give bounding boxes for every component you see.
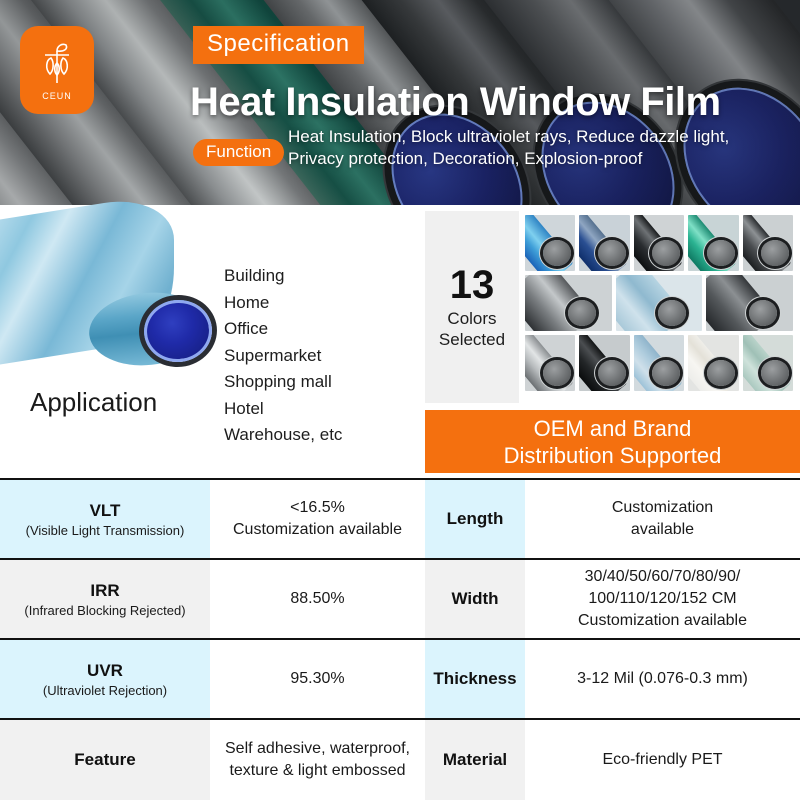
blue-film-roll[interactable] (525, 215, 575, 271)
spec-value-line: <16.5% (290, 497, 345, 519)
spec-label-cell: Feature (0, 720, 210, 800)
page-title: Heat Insulation Window Film (190, 80, 721, 125)
spec-value2-cell: 30/40/50/60/70/80/90/100/110/120/152 CMC… (525, 560, 800, 638)
spec-value-cell: <16.5%Customization available (210, 480, 425, 558)
brand-logo: CEUN (20, 26, 94, 114)
list-item: Building (224, 263, 342, 290)
spec-value-line: 95.30% (290, 668, 344, 690)
oem-banner-line-2: Distribution Supported (504, 442, 722, 469)
function-description: Heat Insulation, Block ultraviolet rays,… (288, 126, 788, 170)
swatch-tube-decor (761, 240, 789, 266)
list-item: Hotel (224, 396, 342, 423)
specification-badge: Specification (193, 26, 364, 64)
swatch-tube-decor (761, 360, 789, 386)
list-item: Home (224, 290, 342, 317)
swatch-tube-decor (707, 360, 735, 386)
spec-value2-line: 100/110/120/152 CM (588, 588, 736, 610)
navy-silver-film-roll[interactable] (579, 215, 629, 271)
spec-value-line: texture & light embossed (229, 760, 405, 782)
spec-value-line: Customization available (233, 519, 402, 541)
colors-caption-line-2: Selected (439, 329, 505, 350)
colors-count: 13 (450, 264, 495, 306)
table-row: UVR(Ultraviolet Rejection)95.30%Thicknes… (0, 640, 800, 720)
spec-value2-line: Eco-friendly PET (602, 749, 722, 771)
plant-leaf-icon (35, 39, 79, 89)
spec-value-cell: Self adhesive, waterproof,texture & ligh… (210, 720, 425, 800)
list-item: Supermarket (224, 343, 342, 370)
list-item: Warehouse, etc (224, 422, 342, 449)
oem-banner: OEM and Brand Distribution Supported (425, 410, 800, 473)
silver-film-roll[interactable] (525, 335, 575, 391)
color-swatch-grid (525, 215, 793, 395)
logo-text: CEUN (42, 91, 72, 101)
cream-white-film-roll[interactable] (688, 335, 738, 391)
swatch-tube-decor (598, 360, 626, 386)
spec-label2-main: Thickness (433, 669, 516, 689)
table-row: VLT(Visible Light Transmission)<16.5%Cus… (0, 480, 800, 560)
spec-value2-cell: Eco-friendly PET (525, 720, 800, 800)
spec-value-line: 88.50% (290, 588, 344, 610)
spec-value2-line: 3-12 Mil (0.076-0.3 mm) (577, 668, 748, 690)
swatch-row (525, 275, 793, 331)
table-row: FeatureSelf adhesive, waterproof,texture… (0, 720, 800, 800)
spec-label-main: VLT (90, 501, 121, 521)
light-blue-film-roll[interactable] (616, 275, 703, 331)
spec-label2-main: Width (451, 589, 498, 609)
light-blue-silver-film-roll[interactable] (634, 335, 684, 391)
spec-label2-cell: Material (425, 720, 525, 800)
spec-value2-line: Customization available (578, 610, 747, 632)
function-line-1: Heat Insulation, Block ultraviolet rays,… (288, 126, 788, 148)
spec-label-main: Feature (74, 750, 135, 770)
spec-label-cell: UVR(Ultraviolet Rejection) (0, 640, 210, 718)
spec-value-cell: 95.30% (210, 640, 425, 718)
black-film-roll[interactable] (579, 335, 629, 391)
gray-silver-film-roll[interactable] (525, 275, 612, 331)
table-row: IRR(Infrared Blocking Rejected)88.50%Wid… (0, 560, 800, 640)
application-film-roll-image (0, 205, 209, 405)
spec-label2-cell: Length (425, 480, 525, 558)
swatch-tube-decor (568, 300, 596, 326)
spec-value2-line: available (631, 519, 694, 541)
function-line-2: Privacy protection, Decoration, Explosio… (288, 148, 788, 170)
application-heading: Application (30, 387, 157, 418)
swatch-row (525, 215, 793, 271)
spec-label2-main: Length (447, 509, 504, 529)
specification-table: VLT(Visible Light Transmission)<16.5%Cus… (0, 478, 800, 800)
spec-label-main: UVR (87, 661, 123, 681)
colors-caption-line-1: Colors (439, 308, 505, 329)
dark-gray-film-roll[interactable] (706, 275, 793, 331)
spec-value-cell: 88.50% (210, 560, 425, 638)
spec-label2-main: Material (443, 750, 507, 770)
list-item: Office (224, 316, 342, 343)
oem-banner-line-1: OEM and Brand (504, 415, 722, 442)
list-item: Shopping mall (224, 369, 342, 396)
swatch-tube-decor (707, 240, 735, 266)
swatch-tube-decor (658, 300, 686, 326)
black-silver-film-roll[interactable] (634, 215, 684, 271)
spec-label-cell: VLT(Visible Light Transmission) (0, 480, 210, 558)
colors-caption: Colors Selected (439, 308, 505, 350)
spec-label2-cell: Thickness (425, 640, 525, 718)
swatch-row (525, 335, 793, 391)
spec-label-sub: (Ultraviolet Rejection) (43, 683, 167, 698)
spec-label-main: IRR (90, 581, 119, 601)
spec-label2-cell: Width (425, 560, 525, 638)
spec-value2-cell: 3-12 Mil (0.076-0.3 mm) (525, 640, 800, 718)
spec-value2-line: Customization (612, 497, 713, 519)
spec-value-line: Self adhesive, waterproof, (225, 738, 410, 760)
pale-green-film-roll[interactable] (743, 335, 793, 391)
swatch-tube-decor (749, 300, 777, 326)
swatch-tube-decor (598, 240, 626, 266)
product-spec-page: CEUN Specification Heat Insulation Windo… (0, 0, 800, 800)
middle-section: Application Building Home Office Superma… (0, 205, 800, 478)
application-list: Building Home Office Supermarket Shoppin… (224, 263, 342, 449)
function-badge: Function (193, 139, 284, 166)
header-banner: CEUN Specification Heat Insulation Windo… (0, 0, 800, 205)
spec-label-cell: IRR(Infrared Blocking Rejected) (0, 560, 210, 638)
spec-value2-cell: Customizationavailable (525, 480, 800, 558)
green-teal-film-roll[interactable] (688, 215, 738, 271)
spec-value2-line: 30/40/50/60/70/80/90/ (585, 566, 741, 588)
spec-label-sub: (Visible Light Transmission) (26, 523, 185, 538)
colors-count-panel: 13 Colors Selected (425, 211, 519, 403)
spec-label-sub: (Infrared Blocking Rejected) (24, 603, 185, 618)
dark-silver-film-roll[interactable] (743, 215, 793, 271)
